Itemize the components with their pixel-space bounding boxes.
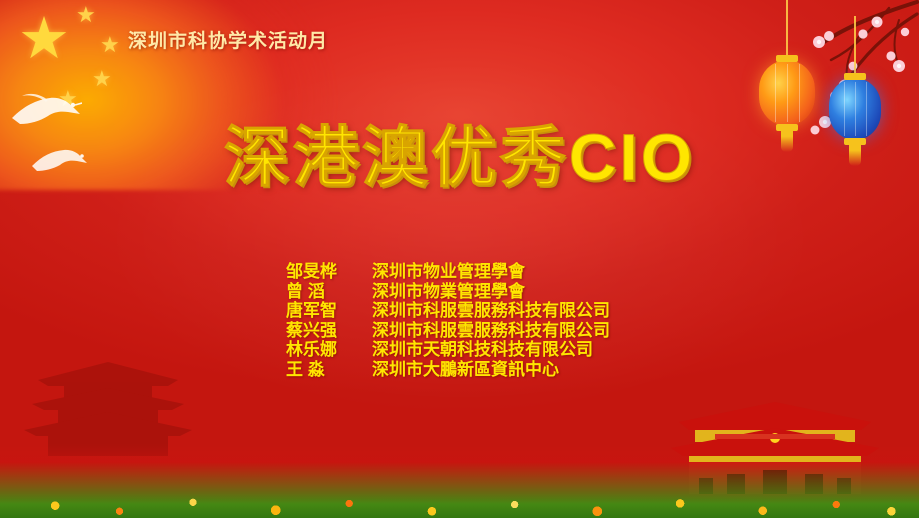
presenter-org: 深圳市大鵬新區資訊中心	[372, 360, 559, 380]
presenter-org: 深圳市天朝科技科技有限公司	[372, 340, 593, 360]
list-item: 曾 滔 深圳市物業管理學會	[286, 282, 610, 302]
list-item: 唐军智 深圳市科服雲服務科技有限公司	[286, 301, 610, 321]
list-item: 蔡兴强 深圳市科服雲服務科技有限公司	[286, 321, 610, 341]
presenter-name: 曾 滔	[286, 282, 372, 302]
presenter-name: 邹旻桦	[286, 262, 372, 282]
list-item: 林乐娜 深圳市天朝科技科技有限公司	[286, 340, 610, 360]
flower-bed-icon	[0, 462, 919, 518]
lantern-string	[786, 0, 788, 62]
lantern-string	[854, 16, 856, 80]
presenter-org: 深圳市物業管理學會	[372, 282, 525, 302]
presenter-name: 唐军智	[286, 301, 372, 321]
presenter-name: 林乐娜	[286, 340, 372, 360]
flag-star-small-2: ★	[100, 34, 120, 56]
flag-star-small-1: ★	[76, 4, 96, 26]
list-item: 邹旻桦 深圳市物业管理學會	[286, 262, 610, 282]
header-title: 深圳市科协学术活动月	[128, 26, 328, 53]
presenter-org: 深圳市物业管理學會	[372, 262, 525, 282]
page-title: 深港澳优秀CIO	[0, 104, 919, 200]
slide-canvas: ★ ★ ★ ★ ★	[0, 0, 919, 518]
list-item: 王 淼 深圳市大鵬新區資訊中心	[286, 360, 610, 380]
presenter-org: 深圳市科服雲服務科技有限公司	[372, 301, 610, 321]
presenter-list: 邹旻桦 深圳市物业管理學會 曾 滔 深圳市物業管理學會 唐军智 深圳市科服雲服務…	[286, 262, 610, 379]
presenter-name: 王 淼	[286, 360, 372, 380]
flag-star-large: ★	[18, 10, 70, 68]
presenter-name: 蔡兴强	[286, 321, 372, 341]
pagoda-icon	[18, 346, 198, 456]
presenter-org: 深圳市科服雲服務科技有限公司	[372, 321, 610, 341]
flag-star-small-3: ★	[92, 68, 112, 90]
